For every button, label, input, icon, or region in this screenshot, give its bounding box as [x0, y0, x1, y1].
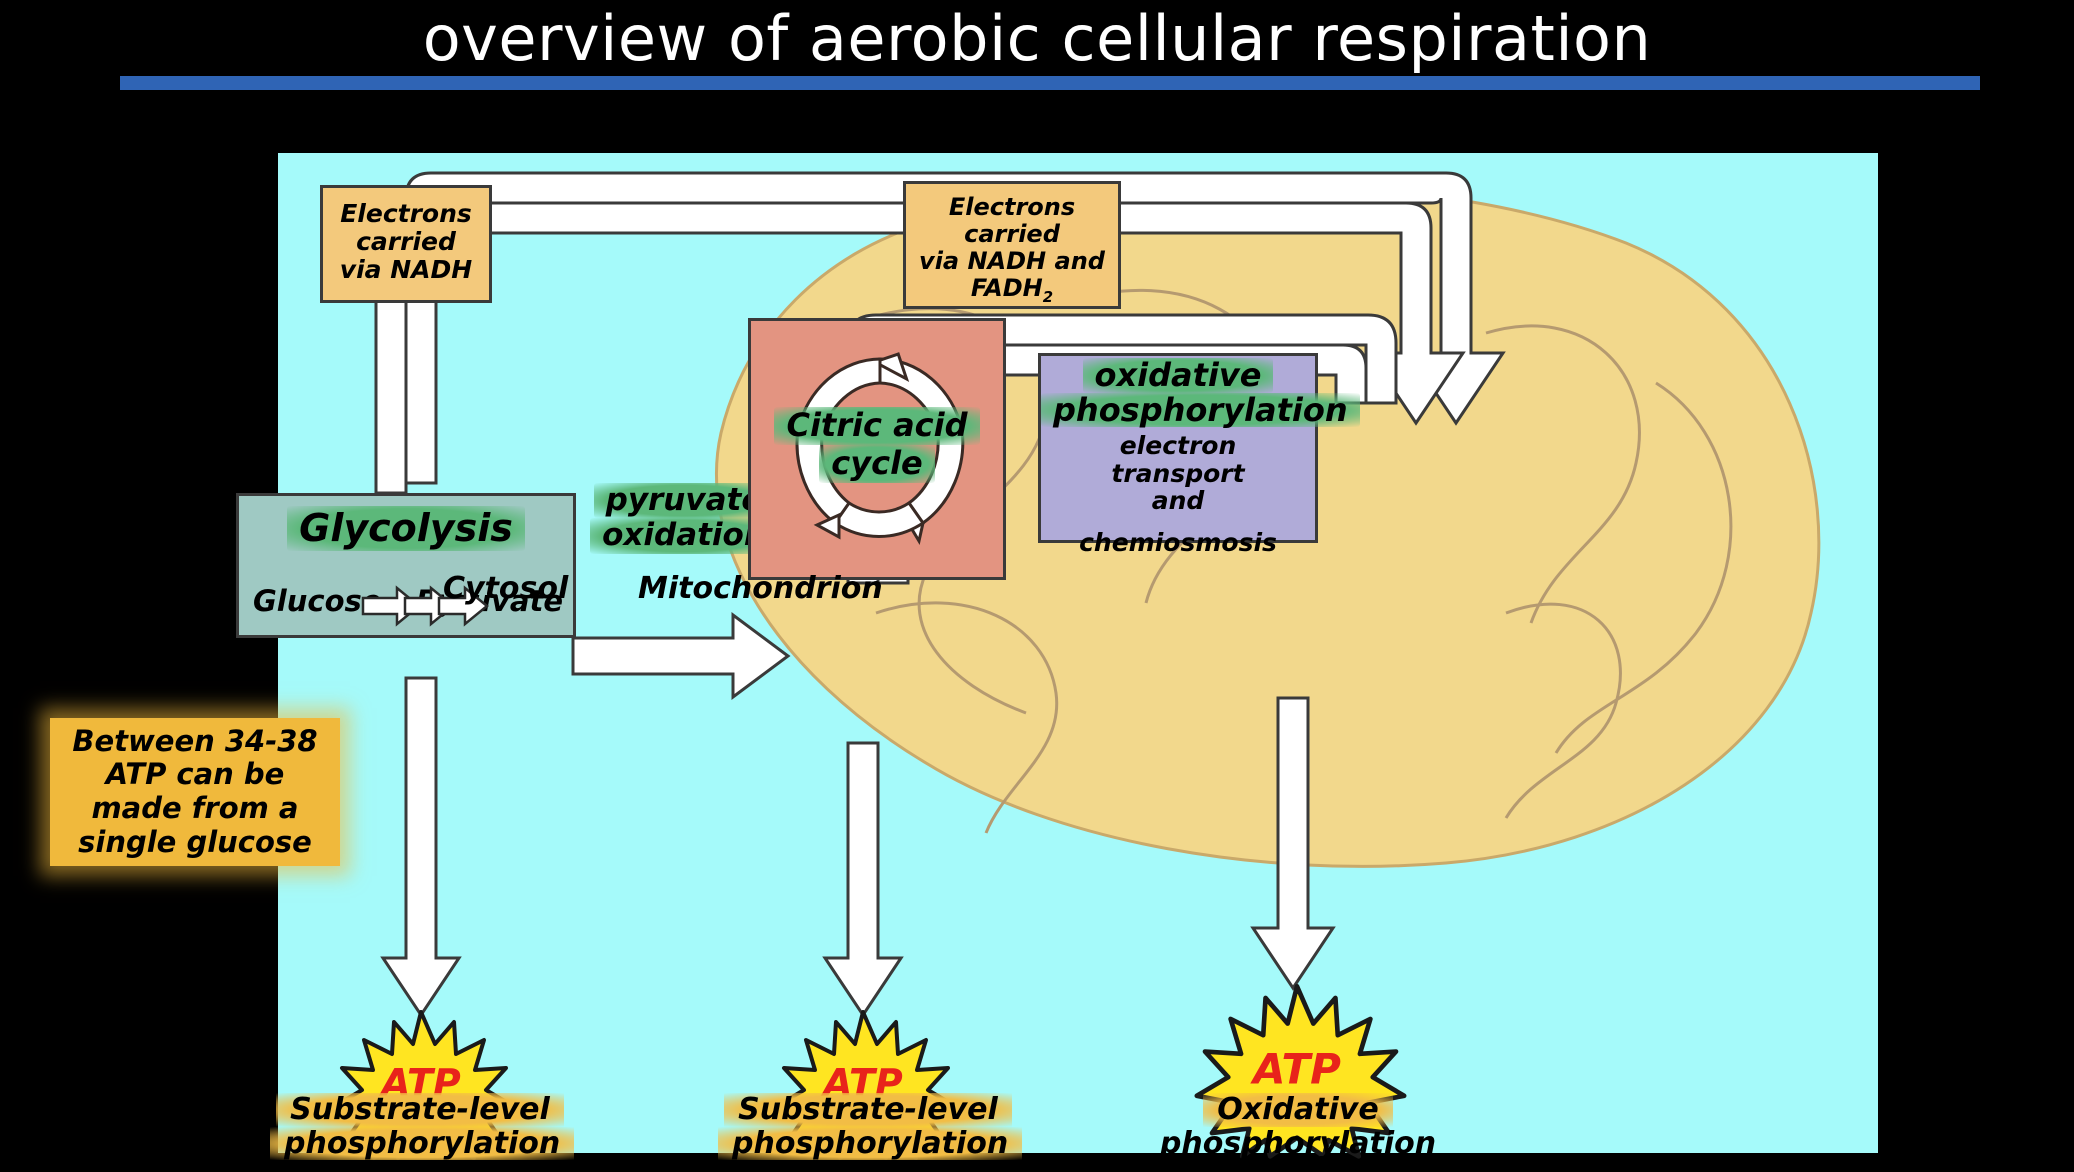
electrons-fadh2-line3: FADH2	[906, 275, 1118, 305]
atp-label-3: ATP	[1198, 1045, 1396, 1094]
electrons-nadh-box: Electrons carried via NADH	[320, 185, 492, 303]
title-divider	[120, 76, 1980, 90]
citric-acid-cycle-box: Citric acid cycle	[748, 318, 1006, 580]
title-bar: overview of aerobic cellular respiration	[0, 0, 2074, 150]
electrons-nadh-line2: carried	[323, 228, 489, 256]
page-title: overview of aerobic cellular respiration	[0, 2, 2074, 75]
electrons-nadh-line3: via NADH	[323, 256, 489, 284]
callout-line2: ATP can be	[72, 758, 317, 792]
cytosol-label: Cytosol	[443, 571, 568, 606]
electrons-nadh-fadh2-box: Electrons carried via NADH and FADH2	[903, 181, 1121, 309]
oxphos-sub4: chemiosmosis	[1038, 528, 1318, 557]
oxphos-sub1: electron	[1041, 432, 1315, 460]
electrons-nadh-line1: Electrons	[323, 200, 489, 228]
bottom-caption-1: Substrate-level phosphorylation	[270, 1093, 570, 1160]
oxidative-phosphorylation-box: oxidative phosphorylation electron trans…	[1038, 353, 1318, 543]
electrons-fadh2-line1: Electrons carried	[906, 194, 1118, 248]
glycolysis-box: Glycolysis Glucose Pyruvate	[236, 493, 576, 638]
citric-line1: Citric acid	[774, 407, 979, 445]
mitochondrion-label: Mitochondrion	[638, 571, 883, 606]
oxphos-sub2: transport	[1041, 460, 1315, 488]
callout-line4: single glucose	[72, 826, 317, 860]
bottom-caption-2: Substrate-level phosphorylation	[718, 1093, 1018, 1160]
oxphos-sub3: and	[1041, 487, 1315, 515]
citric-line2: cycle	[819, 445, 934, 483]
oxphos-line2: phosphorylation	[1041, 393, 1360, 428]
atp-yield-callout: Between 34-38 ATP can be made from a sin…	[50, 718, 340, 866]
oxphos-line1: oxidative	[1083, 358, 1274, 393]
bottom-caption-3: Oxidative phosphorylation	[1148, 1093, 1448, 1160]
electrons-fadh2-line2: via NADH and	[906, 248, 1118, 275]
callout-line1: Between 34-38	[72, 725, 317, 759]
respiration-diagram: Electrons carried via NADH Electrons car…	[278, 153, 1878, 1153]
callout-line3: made from a	[72, 792, 317, 826]
glycolysis-title: Glycolysis	[287, 506, 525, 551]
